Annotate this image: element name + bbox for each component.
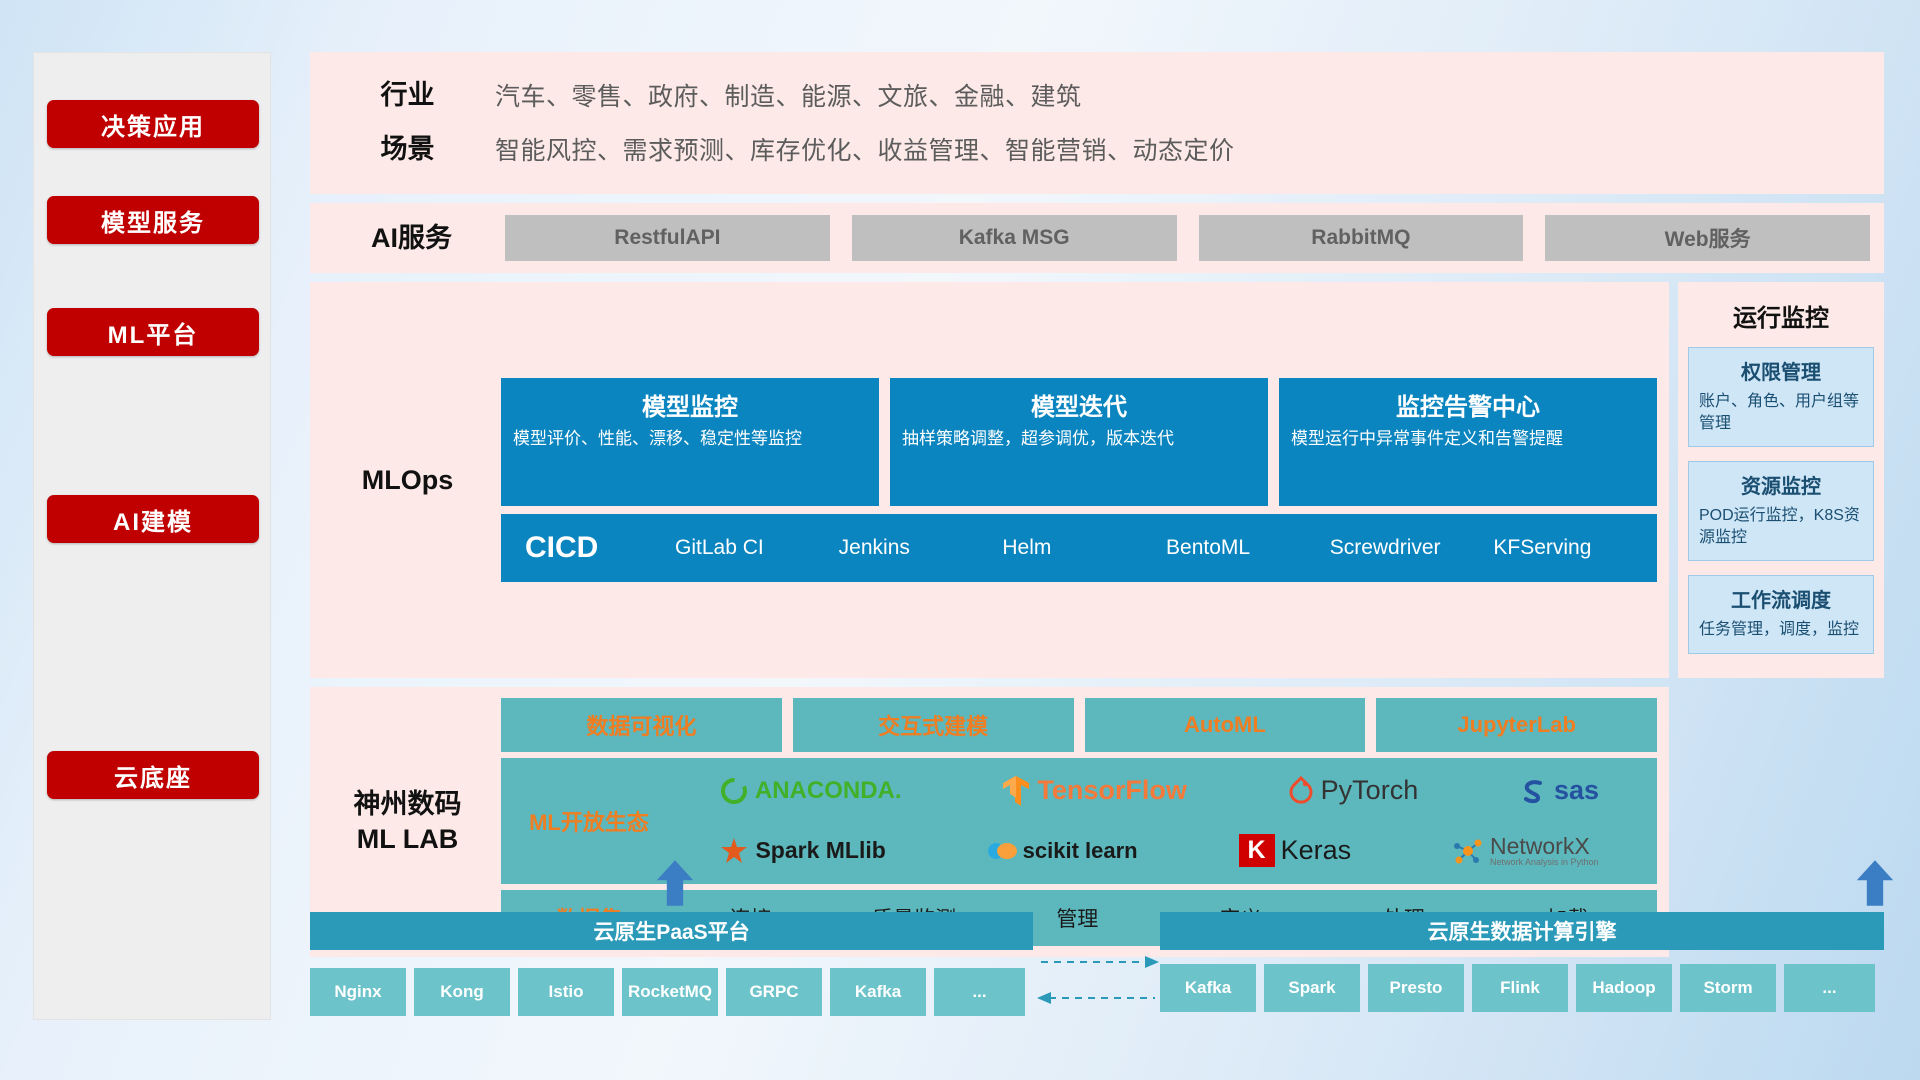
mlops-card-desc: 抽样策略调整，超参调优，版本迭代: [902, 428, 1256, 451]
mlops-label: MLOps: [320, 463, 495, 498]
scenario-values: 智能风控、需求预测、库存优化、收益管理、智能营销、动态定价: [495, 131, 1235, 167]
paas-up-arrow-icon: [655, 858, 695, 908]
spark-mllib-label: Spark MLlib: [755, 837, 885, 864]
networkx-subtitle: Network Analysis in Python: [1490, 858, 1599, 867]
tensorflow-logo: TensorFlow: [1001, 774, 1187, 808]
keras-icon: K: [1239, 834, 1275, 867]
paas-chip-kafka[interactable]: Kafka: [830, 968, 926, 1016]
scikit-learn-label: scikit learn: [1023, 838, 1138, 864]
ai-service-band: AI服务 RestfulAPI Kafka MSG RabbitMQ Web服务: [310, 203, 1884, 273]
scenario-label: 场景: [320, 132, 495, 167]
monitor-card-title: 资源监控: [1699, 470, 1863, 499]
sas-label: sas: [1554, 775, 1599, 806]
cloud-base-section: 云原生PaaS平台 云原生数据计算引擎 Nginx Kong Istio Roc…: [310, 880, 1884, 1050]
monitor-card-resource[interactable]: 资源监控 POD运行监控，K8S资源监控: [1688, 461, 1874, 561]
networkx-label: NetworkX: [1490, 835, 1599, 858]
cicd-tool-jenkins[interactable]: Jenkins: [839, 537, 1003, 559]
spark-icon: [719, 837, 749, 865]
ml-platform-row: MLOps 模型监控 模型评价、性能、漂移、稳定性等监控 模型迭代 抽样策略调整…: [310, 282, 1884, 678]
anaconda-label: ANACONDA.: [755, 777, 902, 805]
mlops-card-title: 监控告警中心: [1291, 387, 1645, 422]
keras-logo: K Keras: [1239, 834, 1352, 867]
rail-label-decision-app[interactable]: 决策应用: [47, 100, 259, 148]
mlops-card-title: 模型监控: [513, 387, 867, 422]
runtime-monitor-title: 运行监控: [1688, 298, 1874, 333]
monitor-card-title: 工作流调度: [1699, 584, 1863, 613]
pytorch-icon: [1287, 776, 1315, 806]
tensorflow-icon: [1001, 774, 1031, 808]
spark-mllib-logo: Spark MLlib: [719, 837, 885, 865]
mlops-card-model-iteration[interactable]: 模型迭代 抽样策略调整，超参调优，版本迭代: [890, 378, 1268, 506]
engine-chip-hadoop[interactable]: Hadoop: [1576, 964, 1672, 1012]
mlops-band: MLOps 模型监控 模型评价、性能、漂移、稳定性等监控 模型迭代 抽样策略调整…: [310, 282, 1669, 678]
scenario-row: 场景 智能风控、需求预测、库存优化、收益管理、智能营销、动态定价: [320, 122, 1872, 176]
ai-service-chip-kafka-msg[interactable]: Kafka MSG: [852, 215, 1177, 261]
ai-service-chip-restfulapi[interactable]: RestfulAPI: [505, 215, 830, 261]
ml-ecosystem-label: ML开放生态: [509, 805, 669, 837]
ai-service-chip-web-service[interactable]: Web服务: [1545, 215, 1870, 261]
anaconda-logo: ANACONDA.: [719, 776, 902, 806]
monitor-card-workflow[interactable]: 工作流调度 任务管理，调度，监控: [1688, 575, 1874, 654]
networkx-logo: NetworkX Network Analysis in Python: [1452, 835, 1599, 867]
paas-chip-grpc[interactable]: GRPC: [726, 968, 822, 1016]
ml-lab-label: 神州数码 ML LAB: [320, 787, 495, 856]
sas-logo: sas: [1518, 775, 1599, 806]
tensorflow-label: TensorFlow: [1037, 775, 1187, 806]
engine-chip-storm[interactable]: Storm: [1680, 964, 1776, 1012]
decision-app-band: 行业 汽车、零售、政府、制造、能源、文旅、金融、建筑 场景 智能风控、需求预测、…: [310, 52, 1884, 194]
paas-chip-nginx[interactable]: Nginx: [310, 968, 406, 1016]
cicd-tool-screwdriver[interactable]: Screwdriver: [1330, 537, 1494, 559]
industry-label: 行业: [320, 78, 495, 113]
keras-label: Keras: [1281, 835, 1352, 866]
lab-tab-jupyterlab[interactable]: JupyterLab: [1376, 698, 1657, 752]
cicd-tool-gitlab-ci[interactable]: GitLab CI: [675, 537, 839, 559]
industry-values: 汽车、零售、政府、制造、能源、文旅、金融、建筑: [495, 77, 1082, 113]
paas-chip-istio[interactable]: Istio: [518, 968, 614, 1016]
rail-label-cloud-base[interactable]: 云底座: [47, 751, 259, 799]
scikit-learn-logo: scikit learn: [987, 838, 1138, 864]
paas-chip-more[interactable]: ...: [934, 968, 1025, 1016]
ai-service-chip-rabbitmq[interactable]: RabbitMQ: [1199, 215, 1524, 261]
rail-label-ml-platform[interactable]: ML平台: [47, 308, 259, 356]
mlops-card-desc: 模型评价、性能、漂移、稳定性等监控: [513, 428, 867, 451]
lab-tab-data-visualization[interactable]: 数据可视化: [501, 698, 782, 752]
paas-chip-kong[interactable]: Kong: [414, 968, 510, 1016]
cicd-tool-helm[interactable]: Helm: [1002, 537, 1166, 559]
anaconda-icon: [719, 776, 749, 806]
cicd-tool-bentoml[interactable]: BentoML: [1166, 537, 1330, 559]
ai-service-label: AI服务: [324, 221, 499, 256]
rail-label-ai-modeling[interactable]: AI建模: [47, 495, 259, 543]
cicd-label: CICD: [525, 531, 675, 565]
cloud-link-arrows: [1035, 952, 1161, 1012]
engine-chip-presto[interactable]: Presto: [1368, 964, 1464, 1012]
engine-chip-spark[interactable]: Spark: [1264, 964, 1360, 1012]
engine-chip-kafka[interactable]: Kafka: [1160, 964, 1256, 1012]
networkx-icon: [1452, 836, 1484, 866]
monitor-card-desc: POD运行监控，K8S资源监控: [1699, 505, 1863, 548]
lab-tab-automl[interactable]: AutoML: [1085, 698, 1366, 752]
scikit-learn-icon: [987, 838, 1017, 864]
rail-label-model-service[interactable]: 模型服务: [47, 196, 259, 244]
stack-label-rail: 决策应用 模型服务 ML平台 AI建模 云底座: [33, 52, 271, 1020]
paas-chip-rocketmq[interactable]: RocketMQ: [622, 968, 718, 1016]
engine-up-arrow-icon: [1855, 858, 1895, 908]
mlops-card-model-monitoring[interactable]: 模型监控 模型评价、性能、漂移、稳定性等监控: [501, 378, 879, 506]
industry-row: 行业 汽车、零售、政府、制造、能源、文旅、金融、建筑: [320, 68, 1872, 122]
monitor-card-title: 权限管理: [1699, 356, 1863, 385]
pytorch-label: PyTorch: [1321, 775, 1419, 806]
paas-chip-list: Nginx Kong Istio RocketMQ GRPC Kafka ...: [310, 968, 1033, 1016]
pytorch-logo: PyTorch: [1287, 775, 1419, 806]
architecture-main: 行业 汽车、零售、政府、制造、能源、文旅、金融、建筑 场景 智能风控、需求预测、…: [310, 52, 1884, 957]
monitor-card-desc: 账户、角色、用户组等管理: [1699, 391, 1863, 434]
runtime-monitor-panel: 运行监控 权限管理 账户、角色、用户组等管理 资源监控 POD运行监控，K8S资…: [1678, 282, 1884, 678]
engine-chip-more[interactable]: ...: [1784, 964, 1875, 1012]
cicd-tool-kfserving[interactable]: KFServing: [1493, 537, 1657, 559]
paas-title-bar: 云原生PaaS平台: [310, 912, 1033, 950]
mlops-card-title: 模型迭代: [902, 387, 1256, 422]
monitor-card-desc: 任务管理，调度，监控: [1699, 619, 1863, 641]
engine-title-bar: 云原生数据计算引擎: [1160, 912, 1884, 950]
mlops-card-desc: 模型运行中异常事件定义和告警提醒: [1291, 428, 1645, 451]
cicd-bar: CICD GitLab CI Jenkins Helm BentoML Scre…: [501, 514, 1657, 582]
engine-chip-list: Kafka Spark Presto Flink Hadoop Storm ..…: [1160, 964, 1884, 1012]
monitor-card-permission[interactable]: 权限管理 账户、角色、用户组等管理: [1688, 347, 1874, 447]
lab-tab-interactive-modeling[interactable]: 交互式建模: [793, 698, 1074, 752]
engine-chip-flink[interactable]: Flink: [1472, 964, 1568, 1012]
sas-icon: [1518, 776, 1548, 806]
mlops-card-alert-center[interactable]: 监控告警中心 模型运行中异常事件定义和告警提醒: [1279, 378, 1657, 506]
